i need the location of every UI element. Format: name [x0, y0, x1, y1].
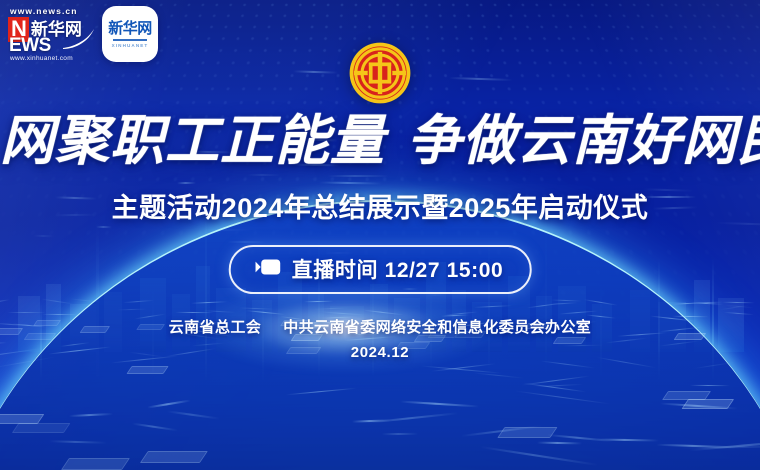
- live-event-poster: www.news.cn N 新华网 EWS www.xinhuanet.com …: [0, 0, 760, 470]
- live-date-text: 12/27: [385, 259, 441, 282]
- title-part-2: 争做云南好网民: [407, 111, 760, 171]
- xinhua-news-word: EWS: [9, 37, 51, 54]
- xinhua-swoosh-icon: [62, 28, 96, 55]
- xinhua-url-bottom: www.xinhuanet.com: [10, 55, 90, 62]
- xinhua-news-logo[interactable]: www.news.cn N 新华网 EWS www.xinhuanet.com: [8, 6, 90, 62]
- poster-footer: 云南省总工会中共云南省委网络安全和信息化委员会办公室 2024.12: [0, 316, 760, 361]
- logo-group: www.news.cn N 新华网 EWS www.xinhuanet.com …: [8, 6, 158, 62]
- app-logo-en-name: XINHUANET: [112, 43, 149, 48]
- title-part-1: 网聚职工正能量: [0, 111, 385, 171]
- acftu-emblem: [349, 42, 411, 104]
- video-camera-icon: [255, 258, 282, 281]
- footer-date: 2024.12: [0, 344, 760, 361]
- live-time-label: 直播时间 12/27 15:00: [292, 254, 504, 284]
- app-logo-cn-name: 新华网: [108, 21, 152, 37]
- xinhua-url-top: www.news.cn: [10, 6, 90, 16]
- app-logo-divider: [113, 39, 147, 41]
- poster-subtitle: 主题活动2024年总结展示暨2025年启动仪式: [0, 186, 760, 225]
- live-label-text: 直播时间: [292, 259, 378, 282]
- poster-main-title: 网聚职工正能量争做云南好网民: [0, 112, 760, 170]
- footer-org-2: 中共云南省委网络安全和信息化委员会办公室: [283, 319, 591, 336]
- xinhuanet-app-logo[interactable]: 新华网 XINHUANET: [102, 6, 158, 62]
- live-clock-text: 15:00: [447, 259, 504, 282]
- footer-org-1: 云南省总工会: [169, 319, 261, 336]
- footer-organizers: 云南省总工会中共云南省委网络安全和信息化委员会办公室: [0, 316, 760, 337]
- live-time-badge[interactable]: 直播时间 12/27 15:00: [229, 245, 532, 294]
